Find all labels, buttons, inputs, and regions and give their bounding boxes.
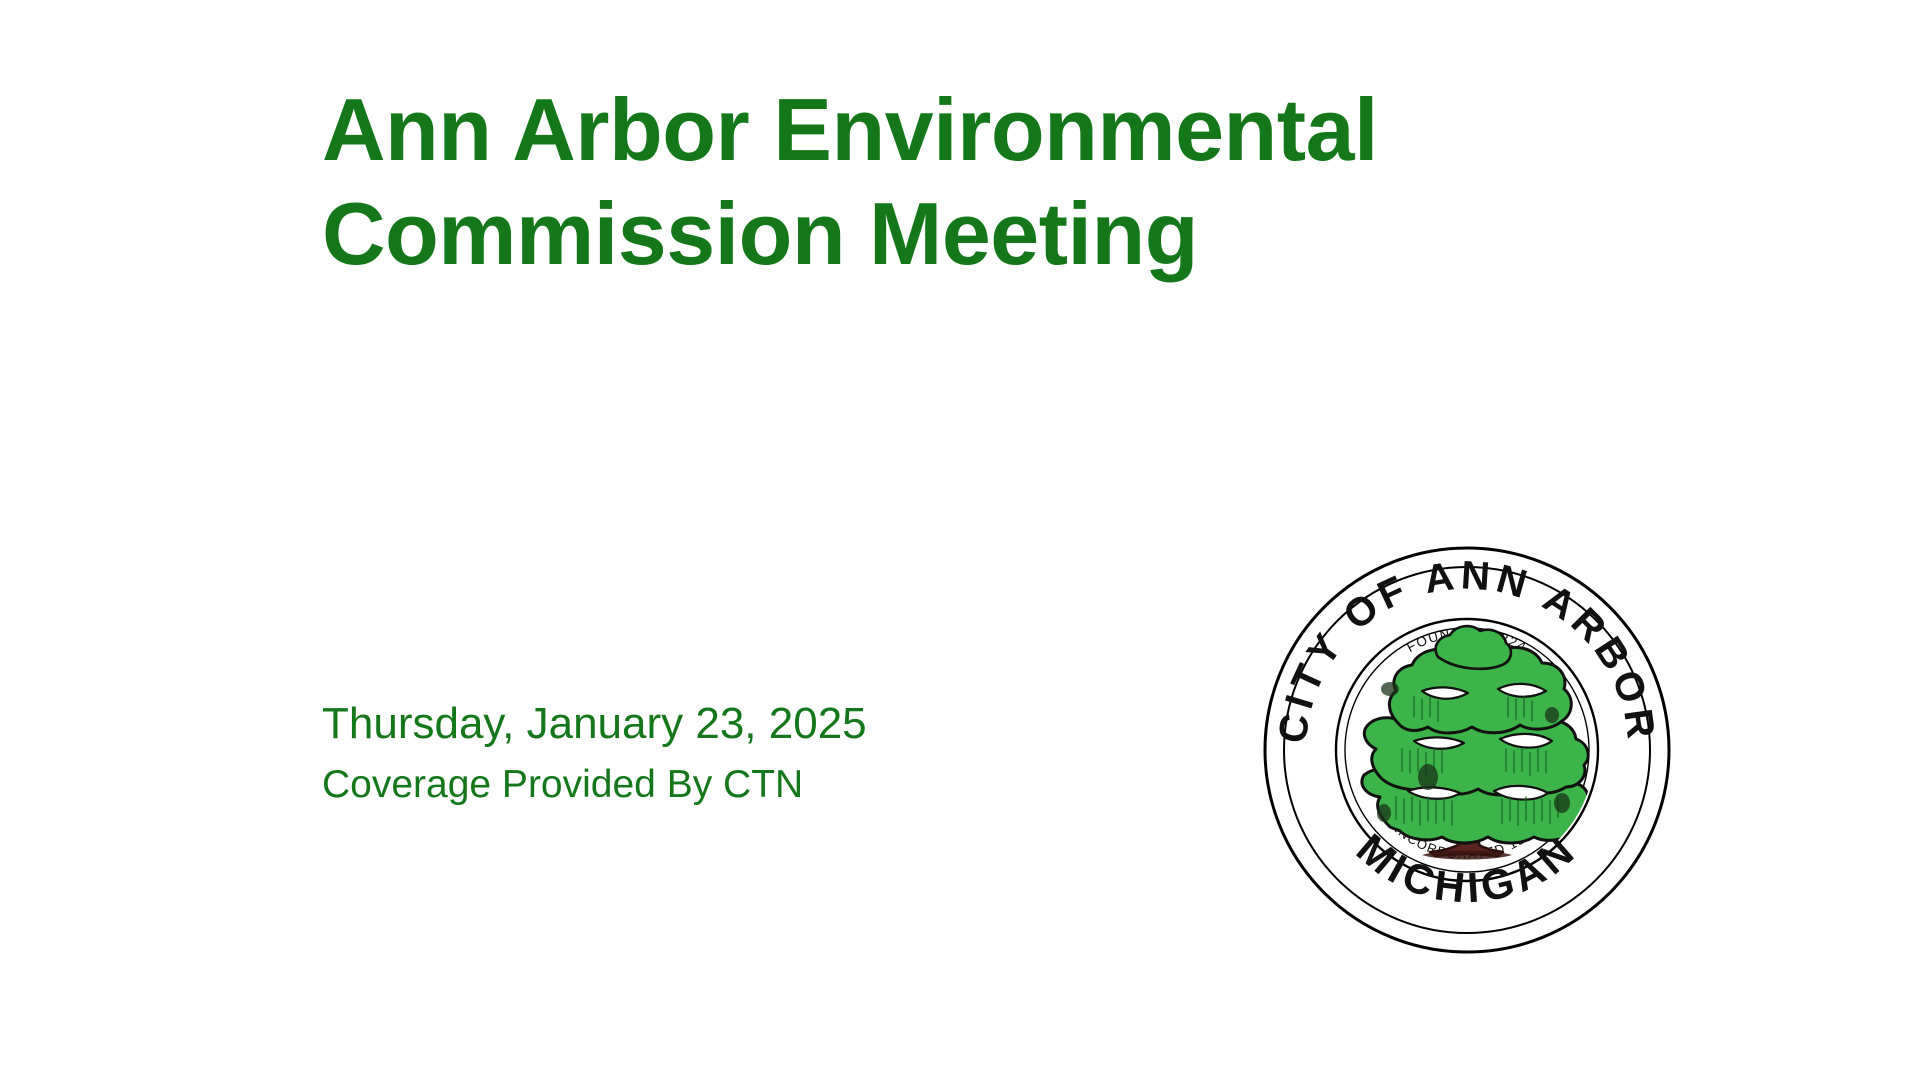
title-block: Ann Arbor Environmental Commission Meeti… [322,78,1522,286]
city-of-ann-arbor-seal-icon: CITY OF ANN ARBOR MICHIGAN FOUNDED 1824 … [1262,545,1672,955]
meeting-date: Thursday, January 23, 2025 [322,695,1222,753]
page-title: Ann Arbor Environmental Commission Meeti… [322,78,1522,286]
slide-canvas: Ann Arbor Environmental Commission Meeti… [0,0,1920,1080]
coverage-credit: Coverage Provided By CTN [322,759,1222,811]
subtitle-block: Thursday, January 23, 2025 Coverage Prov… [322,695,1222,811]
